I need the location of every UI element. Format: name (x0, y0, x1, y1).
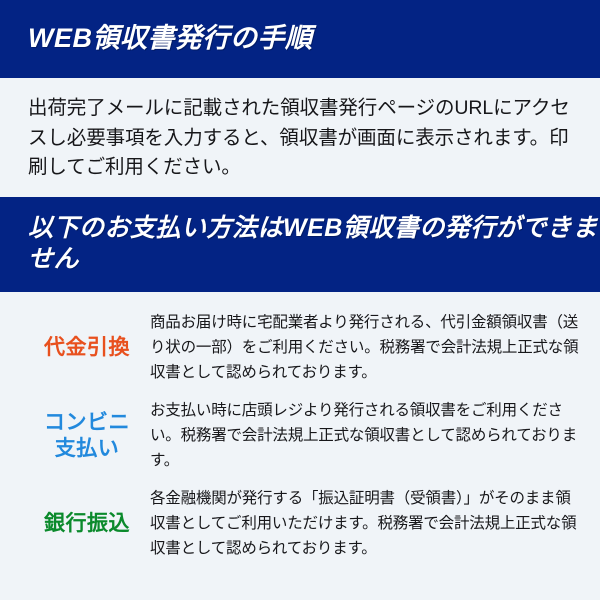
notice-title: 以下のお支払い方法はWEB領収書の発行ができません (28, 213, 600, 276)
payment-method-description-bank: 各金融機関が発行する「振込証明書（受領書）」がそのまま領収書としてご利用いただけ… (148, 486, 582, 561)
payment-method-label-convenience: コンビニ 支払い (26, 410, 148, 463)
payment-methods-list: 代金引換 商品お届け時に宅配業者より発行される、代引金額領収書（送り状の一部）を… (0, 292, 600, 568)
payment-method-row-convenience: コンビニ 支払い お支払い時に店頭レジより発行される領収書をご利用ください。税務… (0, 392, 600, 480)
payment-method-description-convenience: お支払い時に店頭レジより発行される領収書をご利用ください。税務署で会計法規上正式… (148, 398, 582, 473)
payment-method-label-cod: 代金引換 (26, 335, 148, 361)
page-title: WEB領収書発行の手順 (28, 23, 313, 55)
page-header-band: WEB領収書発行の手順 (0, 0, 600, 78)
intro-paragraph: 出荷完了メールに記載された領収書発行ページのURLにアクセスし必要事項を入力する… (0, 78, 600, 197)
receipt-info-page: WEB領収書発行の手順 出荷完了メールに記載された領収書発行ページのURLにアク… (0, 0, 600, 600)
notice-header-band: 以下のお支払い方法はWEB領収書の発行ができません (0, 197, 600, 292)
payment-method-row-bank: 銀行振込 各金融機関が発行する「振込証明書（受領書）」がそのまま領収書としてご利… (0, 480, 600, 568)
payment-method-row-cod: 代金引換 商品お届け時に宅配業者より発行される、代引金額領収書（送り状の一部）を… (0, 304, 600, 392)
payment-method-label-bank: 銀行振込 (26, 511, 148, 537)
payment-method-description-cod: 商品お届け時に宅配業者より発行される、代引金額領収書（送り状の一部）をご利用くだ… (148, 310, 582, 385)
